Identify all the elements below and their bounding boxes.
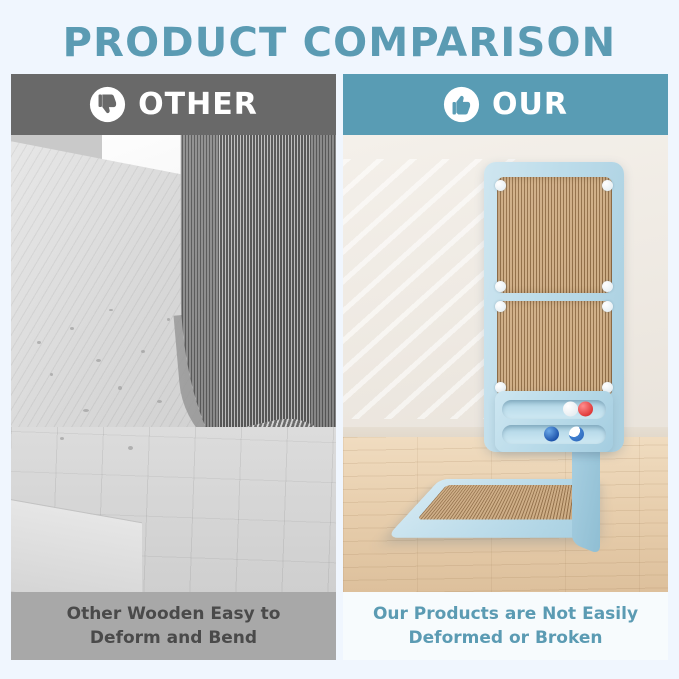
thumbs-up-icon bbox=[443, 86, 480, 123]
product-photo bbox=[343, 135, 668, 592]
cardboard-pad-top bbox=[497, 177, 612, 293]
product-comparison-page: PRODUCT COMPARISON OTHER bbox=[0, 0, 679, 679]
photo-other bbox=[11, 135, 336, 592]
ball-track-housing bbox=[495, 391, 613, 452]
ball-track-lower bbox=[502, 425, 606, 444]
cat-scratcher-product bbox=[467, 162, 643, 564]
page-title: PRODUCT COMPARISON bbox=[0, 18, 679, 68]
photo-our bbox=[343, 135, 668, 592]
toy-ball-blue bbox=[544, 427, 559, 442]
cardboard-pad-bottom bbox=[497, 301, 612, 397]
header-bar-other: OTHER bbox=[11, 74, 336, 135]
thumbs-down-icon bbox=[89, 86, 126, 123]
caption-other-line2: Deform and Bend bbox=[90, 626, 257, 650]
comparison-column-other: OTHER bbox=[11, 74, 336, 660]
corner-clip bbox=[602, 180, 613, 191]
corner-clip bbox=[495, 180, 506, 191]
ball-track-upper bbox=[502, 400, 606, 419]
header-label-other: OTHER bbox=[138, 89, 258, 121]
toy-ball-blue-white bbox=[569, 427, 584, 442]
caption-other: Other Wooden Easy to Deform and Bend bbox=[11, 592, 336, 660]
base-cardboard-pad bbox=[417, 485, 584, 520]
corner-clip bbox=[602, 281, 613, 292]
caption-our: Our Products are Not Easily Deformed or … bbox=[343, 592, 668, 660]
caption-other-line1: Other Wooden Easy to bbox=[67, 602, 281, 626]
header-bar-our: OUR bbox=[343, 74, 668, 135]
product-side-panel bbox=[572, 438, 600, 554]
header-label-our: OUR bbox=[492, 89, 568, 121]
comparison-column-our: OUR bbox=[343, 74, 668, 660]
photo-debris bbox=[11, 135, 336, 592]
toy-ball-white bbox=[563, 402, 578, 417]
toy-ball-red bbox=[578, 402, 593, 417]
caption-our-line2: Deformed or Broken bbox=[409, 626, 603, 650]
deformed-scratcher-photo bbox=[11, 135, 336, 592]
product-upright-frame bbox=[484, 162, 624, 452]
caption-our-line1: Our Products are Not Easily bbox=[373, 602, 638, 626]
